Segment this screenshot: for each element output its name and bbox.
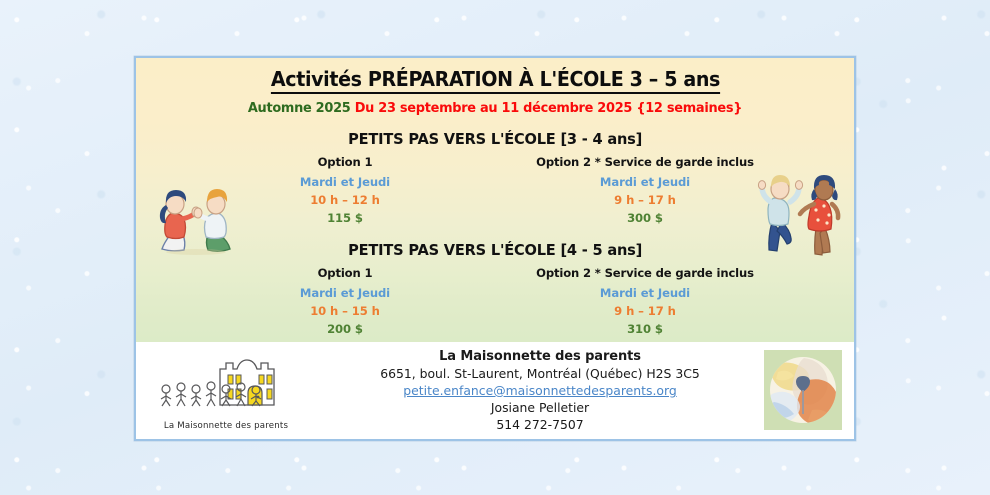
option-heading: Option 1	[195, 155, 495, 169]
subtitle-dates: Du 23 septembre au 11 décembre 2025 {12 …	[355, 100, 742, 116]
option-heading: Option 2 * Service de garde inclus	[495, 155, 795, 169]
page-title: Activités PRÉPARATION À L'ÉCOLE 3 – 5 an…	[270, 67, 719, 94]
two-children-dancing-illustration	[746, 170, 846, 265]
email-link[interactable]: petite.enfance@maisonnettedesparents.org	[306, 383, 774, 398]
program-title: PETITS PAS VERS L'ÉCOLE [4 - 5 ans]	[348, 241, 642, 259]
option-column-2: Option 2 * Service de garde inclus Mardi…	[495, 266, 795, 336]
option-heading: Option 1	[195, 266, 495, 280]
organization-address: 6651, boul. St-Laurent, Montréal (Québec…	[306, 366, 774, 381]
poster-footer: La Maisonnette des parents La Maisonnett…	[136, 342, 854, 439]
organization-logo: La Maisonnette des parents	[136, 351, 306, 431]
title-block: Activités PRÉPARATION À L'ÉCOLE 3 – 5 an…	[136, 58, 854, 116]
subtitle: Automne 2025 Du 23 septembre au 11 décem…	[154, 100, 836, 116]
poster-body: Activités PRÉPARATION À L'ÉCOLE 3 – 5 an…	[136, 58, 854, 342]
subtitle-season: Automne 2025	[248, 100, 351, 116]
option-column-1: Option 1 Mardi et Jeudi 10 h – 15 h 200 …	[195, 266, 495, 336]
option-days: Mardi et Jeudi	[495, 286, 795, 300]
option-time: 10 h – 15 h	[195, 304, 495, 318]
option-time: 9 h – 17 h	[495, 304, 795, 318]
logo-caption: La Maisonnette des parents	[156, 421, 296, 431]
poster-card: Activités PRÉPARATION À L'ÉCOLE 3 – 5 an…	[134, 56, 856, 441]
option-days: Mardi et Jeudi	[195, 286, 495, 300]
options-row: Option 1 Mardi et Jeudi 10 h – 15 h 200 …	[136, 266, 854, 336]
option-price: 200 $	[195, 322, 495, 336]
contact-person: Josiane Pelletier	[306, 400, 774, 415]
option-heading: Option 2 * Service de garde inclus	[495, 266, 795, 280]
phone-number: 514 272-7507	[306, 417, 774, 432]
globe-with-map-pin-image	[764, 350, 842, 435]
organization-name: La Maisonnette des parents	[306, 349, 774, 364]
option-price: 310 $	[495, 322, 795, 336]
program-title: PETITS PAS VERS L'ÉCOLE [3 - 4 ans]	[348, 130, 642, 148]
two-children-clapping-hands-illustration	[148, 179, 244, 264]
